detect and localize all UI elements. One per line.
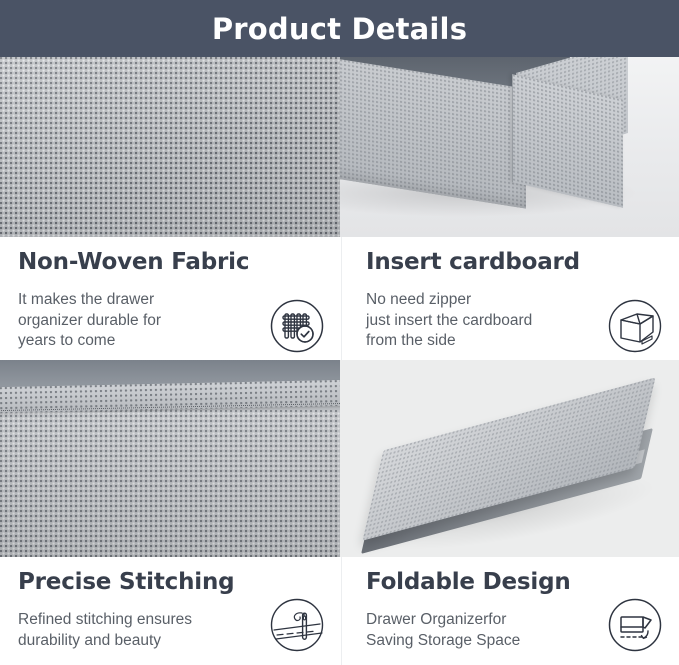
- feature-heading: Foldable Design: [366, 570, 667, 595]
- feature-card-foldable-design: Foldable Design Drawer Organizerfor Savi…: [341, 557, 679, 665]
- woven-fabric-check-icon: [269, 298, 325, 354]
- page-title: Product Details: [212, 12, 467, 46]
- non-woven-fabric-closeup-photo: [0, 57, 340, 237]
- feature-card-non-woven-fabric: Non-Woven Fabric It makes the drawer org…: [0, 237, 341, 360]
- feature-body: Refined stitching ensures durability and…: [18, 610, 253, 651]
- feature-body: It makes the drawer organizer durable fo…: [18, 290, 253, 351]
- photo-row-bottom: [0, 360, 679, 557]
- feature-text-row-bottom: Precise Stitching Refined stitching ensu…: [0, 557, 679, 665]
- fabric-texture-swatch: [0, 57, 340, 237]
- folded-product-scene: [340, 360, 679, 557]
- fabric-panel: [0, 410, 340, 557]
- needle-thread-stitch-icon: [269, 597, 325, 653]
- feature-card-insert-cardboard: Insert cardboard No need zipper just ins…: [341, 237, 679, 360]
- feature-text-row-top: Non-Woven Fabric It makes the drawer org…: [0, 237, 679, 360]
- feature-card-precise-stitching: Precise Stitching Refined stitching ensu…: [0, 557, 341, 665]
- foldable-box-arrow-icon: [607, 597, 663, 653]
- feature-body: Drawer Organizerfor Saving Storage Space: [366, 610, 616, 651]
- photo-row-top: [0, 57, 679, 237]
- product-details-infographic: Product Details Non-Woven Fabric It make…: [0, 0, 679, 665]
- header-banner: Product Details: [0, 0, 679, 57]
- stitched-edge-closeup-photo: [0, 360, 340, 557]
- stitching-scene: [0, 360, 340, 557]
- organizer-scene: [340, 57, 679, 237]
- folded-flat-organizer-photo: [340, 360, 679, 557]
- organizer-cardboard-insert-photo: [340, 57, 679, 237]
- feature-body: No need zipper just insert the cardboard…: [366, 290, 616, 351]
- feature-heading: Precise Stitching: [18, 570, 329, 595]
- feature-heading: Insert cardboard: [366, 250, 667, 275]
- feature-heading: Non-Woven Fabric: [18, 250, 329, 275]
- cardboard-insert-icon: [607, 298, 663, 354]
